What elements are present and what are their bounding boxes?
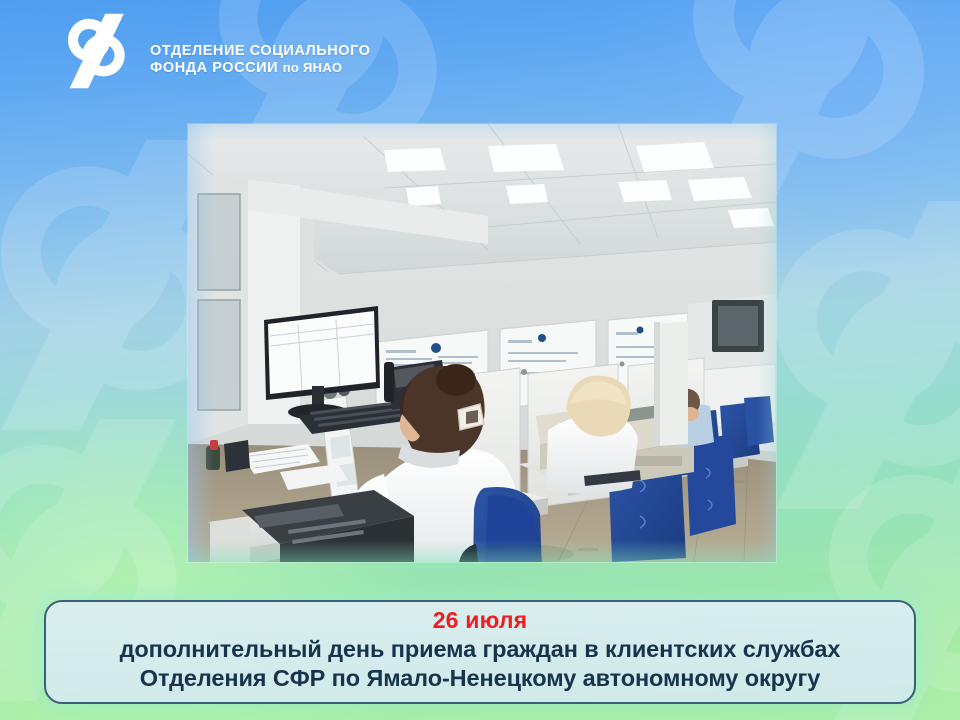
- header-title-line-2: ФОНДА РОССИИ по ЯНАО: [150, 60, 370, 77]
- header-branding: ОТДЕЛЕНИЕ СОЦИАЛЬНОГО ФОНДА РОССИИ по ЯН…: [52, 12, 370, 90]
- office-photo: [188, 124, 776, 562]
- header-title-block: ОТДЕЛЕНИЕ СОЦИАЛЬНОГО ФОНДА РОССИИ по ЯН…: [150, 25, 370, 77]
- header-title-line-2-suffix: по ЯНАО: [283, 60, 343, 75]
- caption-line-2: Отделения СФР по Ямало-Ненецкому автоном…: [140, 664, 820, 694]
- poster-root: ОТДЕЛЕНИЕ СОЦИАЛЬНОГО ФОНДА РОССИИ по ЯН…: [0, 0, 960, 720]
- sfr-logo-icon: [52, 12, 138, 90]
- photo-frame: [188, 124, 776, 562]
- header-title-line-1: ОТДЕЛЕНИЕ СОЦИАЛЬНОГО: [150, 43, 370, 60]
- header-title-line-2-main: ФОНДА РОССИИ: [150, 60, 278, 76]
- caption-banner: 26 июля дополнительный день приема гражд…: [44, 600, 916, 704]
- caption-date: 26 июля: [433, 608, 528, 634]
- caption-line-1: дополнительный день приема граждан в кли…: [120, 635, 841, 665]
